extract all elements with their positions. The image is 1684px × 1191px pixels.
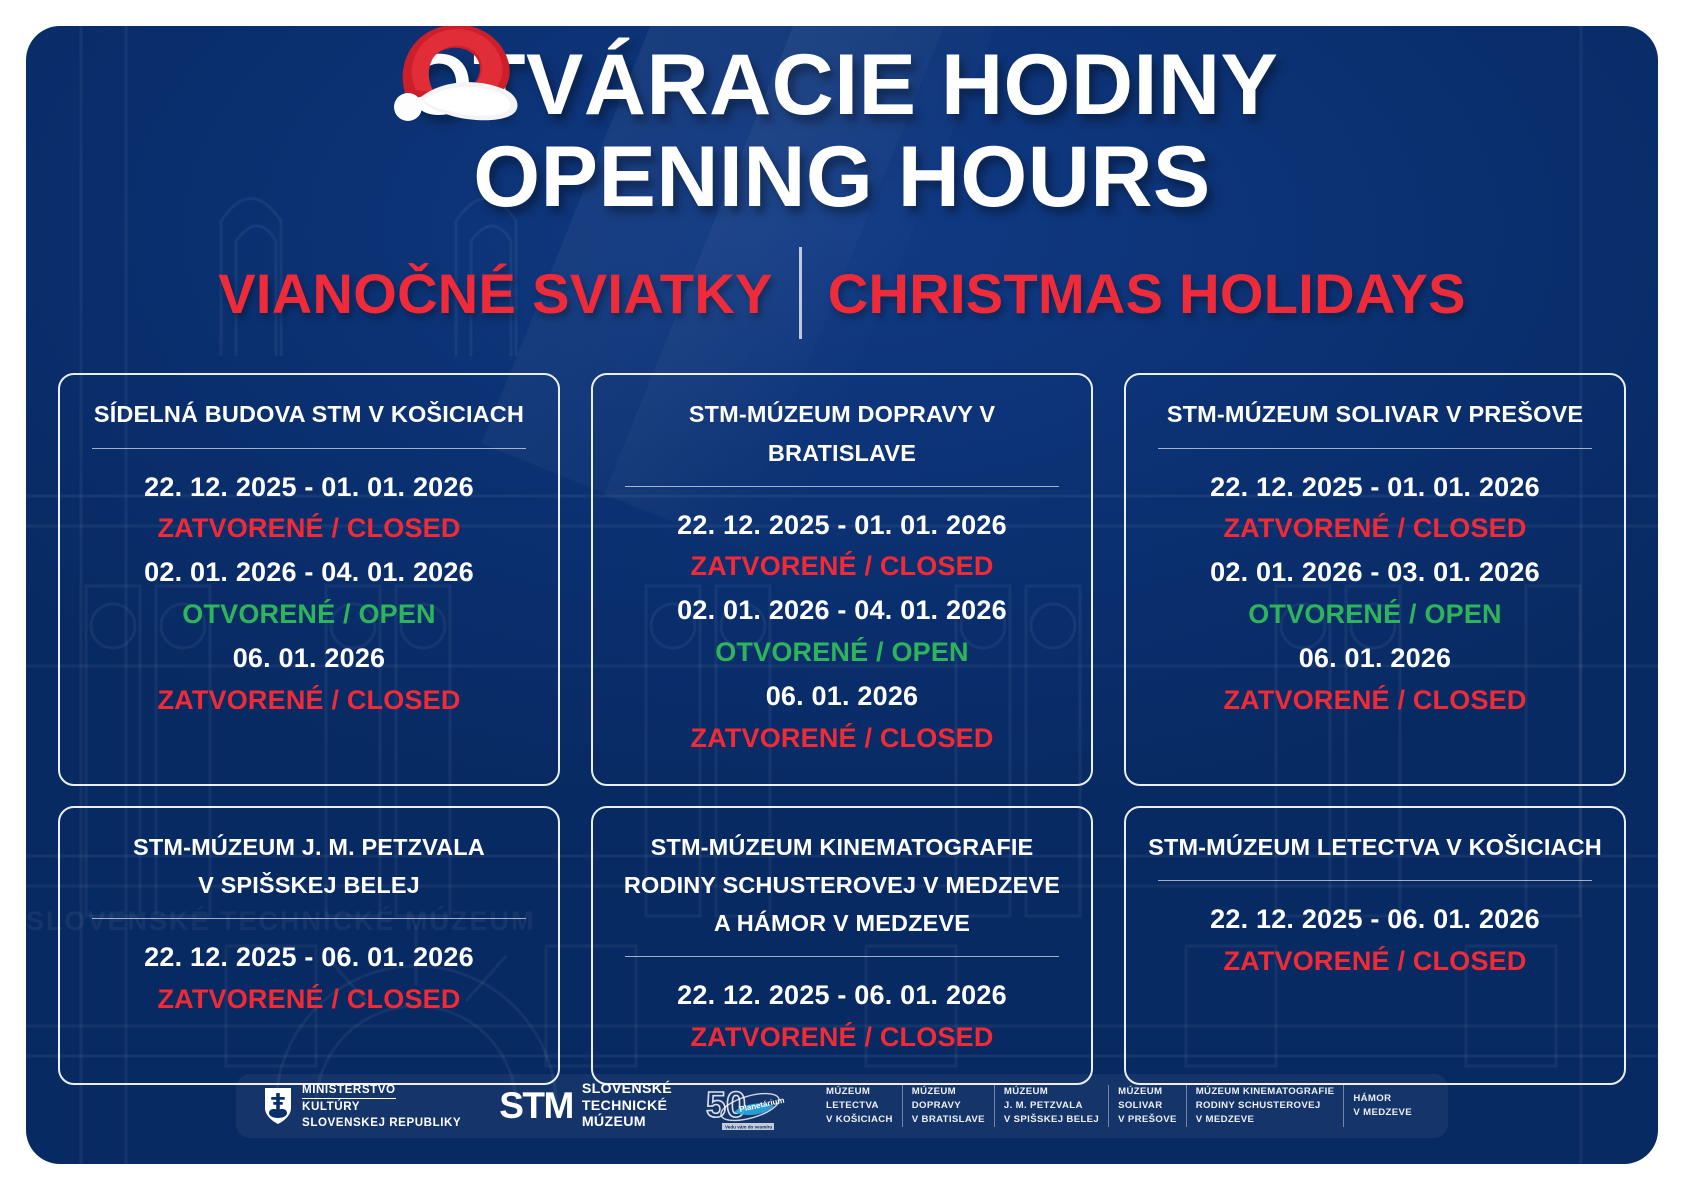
title-wrap: OTVÁRACIE HODINY OPENING HOURS <box>406 42 1279 221</box>
stm-wordmark: STM <box>499 1089 573 1123</box>
subtitle-sk: VIANOČNÉ SVIATKY <box>218 261 799 326</box>
branch-line2: DOPRAVY <box>912 1099 985 1113</box>
entry-status: OTVORENÉ / OPEN <box>615 632 1069 674</box>
entry-status: ZATVORENÉ / CLOSED <box>82 508 536 550</box>
page-title-sk: OTVÁRACIE HODINY <box>406 42 1279 130</box>
schedule-entry: 06. 01. 2026 ZATVORENÉ / CLOSED <box>82 638 536 722</box>
stm-logo: STM SLOVENSKÉ TECHNICKÉ MÚZEUM <box>499 1081 672 1131</box>
branch-line3: V PREŠOVE <box>1118 1113 1177 1127</box>
branch-line3: V BRATISLAVE <box>912 1113 985 1127</box>
slovak-coat-of-arms-icon <box>263 1086 293 1126</box>
schedule-entry: 02. 01. 2026 - 04. 01. 2026 OTVORENÉ / O… <box>615 590 1069 674</box>
entry-dates: 02. 01. 2026 - 03. 01. 2026 <box>1148 552 1602 594</box>
venue-card: STM-MÚZEUM KINEMATOGRAFIE RODINY SCHUSTE… <box>591 806 1093 1085</box>
stm-line3: MÚZEUM <box>582 1114 672 1131</box>
venue-title-line: STM-MÚZEUM KINEMATOGRAFIE <box>615 828 1069 866</box>
entry-dates: 22. 12. 2025 - 06. 01. 2026 <box>615 975 1069 1017</box>
poster-root: SLOVENSKÉ TECHNICKÉ MÚZEUM OTVÁRACIE HOD… <box>0 0 1684 1191</box>
branch-line1: MÚZEUM <box>826 1085 893 1099</box>
venue-title: STM-MÚZEUM LETECTVA V KOŠICIACH <box>1148 828 1602 866</box>
branch-list: MÚZEUM LETECTVA V KOŠICIACH MÚZEUM DOPRA… <box>820 1085 1421 1127</box>
venue-title: STM-MÚZEUM KINEMATOGRAFIE RODINY SCHUSTE… <box>615 828 1069 942</box>
branch-item: MÚZEUM SOLIVAR V PREŠOVE <box>1108 1085 1186 1127</box>
entry-status: OTVORENÉ / OPEN <box>82 594 536 636</box>
schedule-entry: 22. 12. 2025 - 01. 01. 2026 ZATVORENÉ / … <box>1148 467 1602 551</box>
ministry-line1: MINISTERSTVO <box>302 1082 396 1099</box>
schedule-entry: 22. 12. 2025 - 01. 01. 2026 ZATVORENÉ / … <box>82 467 536 551</box>
entry-dates: 06. 01. 2026 <box>1148 638 1602 680</box>
entry-status: ZATVORENÉ / CLOSED <box>1148 941 1602 983</box>
poster-header: OTVÁRACIE HODINY OPENING HOURS VIANOČNÉ … <box>26 26 1658 339</box>
schedule-entry: 06. 01. 2026 ZATVORENÉ / CLOSED <box>615 676 1069 760</box>
entry-status: ZATVORENÉ / CLOSED <box>82 979 536 1021</box>
subtitle-en: CHRISTMAS HOLIDAYS <box>802 261 1466 326</box>
venue-card: STM-MÚZEUM LETECTVA V KOŠICIACH 22. 12. … <box>1124 806 1626 1085</box>
branch-item: MÚZEUM J. M. PETZVALA V SPIŠSKEJ BELEJ <box>994 1085 1108 1127</box>
ministry-text: MINISTERSTVO KULTÚRY SLOVENSKEJ REPUBLIK… <box>302 1082 461 1130</box>
entry-status: ZATVORENÉ / CLOSED <box>1148 508 1602 550</box>
venue-title-line: STM-MÚZEUM DOPRAVY V BRATISLAVE <box>615 395 1069 471</box>
anniversary-50-icon: 50 Planetárium Vedu vám do vesmíru <box>704 1081 790 1131</box>
page-title-en: OPENING HOURS <box>406 134 1279 222</box>
venue-title-line: SÍDELNÁ BUDOVA STM V KOŠICIACH <box>82 395 536 433</box>
entry-dates: 22. 12. 2025 - 01. 01. 2026 <box>1148 467 1602 509</box>
venue-rule <box>92 918 526 919</box>
venue-title-line: A HÁMOR V MEDZEVE <box>615 904 1069 942</box>
branch-line2: RODINY SCHUSTEROVEJ <box>1196 1099 1335 1113</box>
ministry-line2: KULTÚRY <box>302 1099 461 1114</box>
poster-board: SLOVENSKÉ TECHNICKÉ MÚZEUM OTVÁRACIE HOD… <box>26 26 1658 1164</box>
schedule-entry: 22. 12. 2025 - 06. 01. 2026 ZATVORENÉ / … <box>615 975 1069 1059</box>
venue-title-line: RODINY SCHUSTEROVEJ V MEDZEVE <box>615 866 1069 904</box>
branch-line2: V MEDZEVE <box>1353 1106 1412 1120</box>
venue-rule <box>625 956 1059 957</box>
venue-card: SÍDELNÁ BUDOVA STM V KOŠICIACH 22. 12. 2… <box>58 373 560 785</box>
schedule-entry: 22. 12. 2025 - 01. 01. 2026 ZATVORENÉ / … <box>615 505 1069 589</box>
schedule-entry: 06. 01. 2026 ZATVORENÉ / CLOSED <box>1148 638 1602 722</box>
branch-item: MÚZEUM LETECTVA V KOŠICIACH <box>820 1085 902 1127</box>
venue-card: STM-MÚZEUM J. M. PETZVALA V SPIŠSKEJ BEL… <box>58 806 560 1085</box>
branch-line3: V KOŠICIACH <box>826 1113 893 1127</box>
entry-status: ZATVORENÉ / CLOSED <box>82 680 536 722</box>
branch-line1: MÚZEUM KINEMATOGRAFIE <box>1196 1085 1335 1099</box>
venue-card: STM-MÚZEUM DOPRAVY V BRATISLAVE 22. 12. … <box>591 373 1093 785</box>
schedule-entry: 02. 01. 2026 - 04. 01. 2026 OTVORENÉ / O… <box>82 552 536 636</box>
branch-line1: MÚZEUM <box>1118 1085 1177 1099</box>
stm-line2: TECHNICKÉ <box>582 1098 672 1115</box>
branch-line2: SOLIVAR <box>1118 1099 1177 1113</box>
venue-title: STM-MÚZEUM DOPRAVY V BRATISLAVE <box>615 395 1069 471</box>
branch-line1: HÁMOR <box>1353 1092 1412 1106</box>
venue-rule <box>1158 448 1592 449</box>
branch-item: MÚZEUM KINEMATOGRAFIE RODINY SCHUSTEROVE… <box>1186 1085 1344 1127</box>
branch-line2: LETECTVA <box>826 1099 893 1113</box>
venue-title: STM-MÚZEUM SOLIVAR V PREŠOVE <box>1148 395 1602 433</box>
venue-rule <box>92 448 526 449</box>
entry-status: ZATVORENÉ / CLOSED <box>615 1017 1069 1059</box>
entry-dates: 02. 01. 2026 - 04. 01. 2026 <box>82 552 536 594</box>
footer-logo-bar: MINISTERSTVO KULTÚRY SLOVENSKEJ REPUBLIK… <box>236 1074 1448 1138</box>
venue-rule <box>1158 880 1592 881</box>
entry-dates: 02. 01. 2026 - 04. 01. 2026 <box>615 590 1069 632</box>
venue-title-line: STM-MÚZEUM J. M. PETZVALA <box>82 828 536 866</box>
venue-card: STM-MÚZEUM SOLIVAR V PREŠOVE 22. 12. 202… <box>1124 373 1626 785</box>
entry-dates: 06. 01. 2026 <box>615 676 1069 718</box>
entry-status: ZATVORENÉ / CLOSED <box>1148 680 1602 722</box>
entry-dates: 06. 01. 2026 <box>82 638 536 680</box>
schedule-entry: 02. 01. 2026 - 03. 01. 2026 OTVORENÉ / O… <box>1148 552 1602 636</box>
entry-status: OTVORENÉ / OPEN <box>1148 594 1602 636</box>
venue-title-line: STM-MÚZEUM LETECTVA V KOŠICIACH <box>1148 828 1602 866</box>
anniversary-tagline: Vedu vám do vesmíru <box>725 1125 772 1130</box>
entry-dates: 22. 12. 2025 - 06. 01. 2026 <box>82 937 536 979</box>
branch-line2: J. M. PETZVALA <box>1004 1099 1099 1113</box>
cards-grid: SÍDELNÁ BUDOVA STM V KOŠICIACH 22. 12. 2… <box>58 373 1626 1084</box>
branch-line3: V SPIŠSKEJ BELEJ <box>1004 1113 1099 1127</box>
branch-item: HÁMOR V MEDZEVE <box>1343 1085 1421 1127</box>
schedule-entry: 22. 12. 2025 - 06. 01. 2026 ZATVORENÉ / … <box>1148 899 1602 983</box>
branch-line3: V MEDZEVE <box>1196 1113 1335 1127</box>
branch-line1: MÚZEUM <box>1004 1085 1099 1099</box>
subtitle-row: VIANOČNÉ SVIATKY CHRISTMAS HOLIDAYS <box>26 247 1658 339</box>
schedule-entry: 22. 12. 2025 - 06. 01. 2026 ZATVORENÉ / … <box>82 937 536 1021</box>
entry-status: ZATVORENÉ / CLOSED <box>615 718 1069 760</box>
venue-rule <box>625 486 1059 487</box>
entry-status: ZATVORENÉ / CLOSED <box>615 546 1069 588</box>
stm-line1: SLOVENSKÉ <box>582 1081 672 1098</box>
venue-title: STM-MÚZEUM J. M. PETZVALA V SPIŠSKEJ BEL… <box>82 828 536 904</box>
branch-item: MÚZEUM DOPRAVY V BRATISLAVE <box>902 1085 994 1127</box>
venue-title-line: STM-MÚZEUM SOLIVAR V PREŠOVE <box>1148 395 1602 433</box>
ministry-of-culture-logo: MINISTERSTVO KULTÚRY SLOVENSKEJ REPUBLIK… <box>263 1082 461 1130</box>
venue-title: SÍDELNÁ BUDOVA STM V KOŠICIACH <box>82 395 536 433</box>
stm-fullname: SLOVENSKÉ TECHNICKÉ MÚZEUM <box>582 1081 672 1131</box>
branch-line1: MÚZEUM <box>912 1085 985 1099</box>
ministry-line3: SLOVENSKEJ REPUBLIKY <box>302 1115 461 1130</box>
venue-title-line: V SPIŠSKEJ BELEJ <box>82 866 536 904</box>
planetarium-50-logo: 50 Planetárium Vedu vám do vesmíru <box>704 1081 790 1131</box>
entry-dates: 22. 12. 2025 - 01. 01. 2026 <box>82 467 536 509</box>
entry-dates: 22. 12. 2025 - 01. 01. 2026 <box>615 505 1069 547</box>
entry-dates: 22. 12. 2025 - 06. 01. 2026 <box>1148 899 1602 941</box>
